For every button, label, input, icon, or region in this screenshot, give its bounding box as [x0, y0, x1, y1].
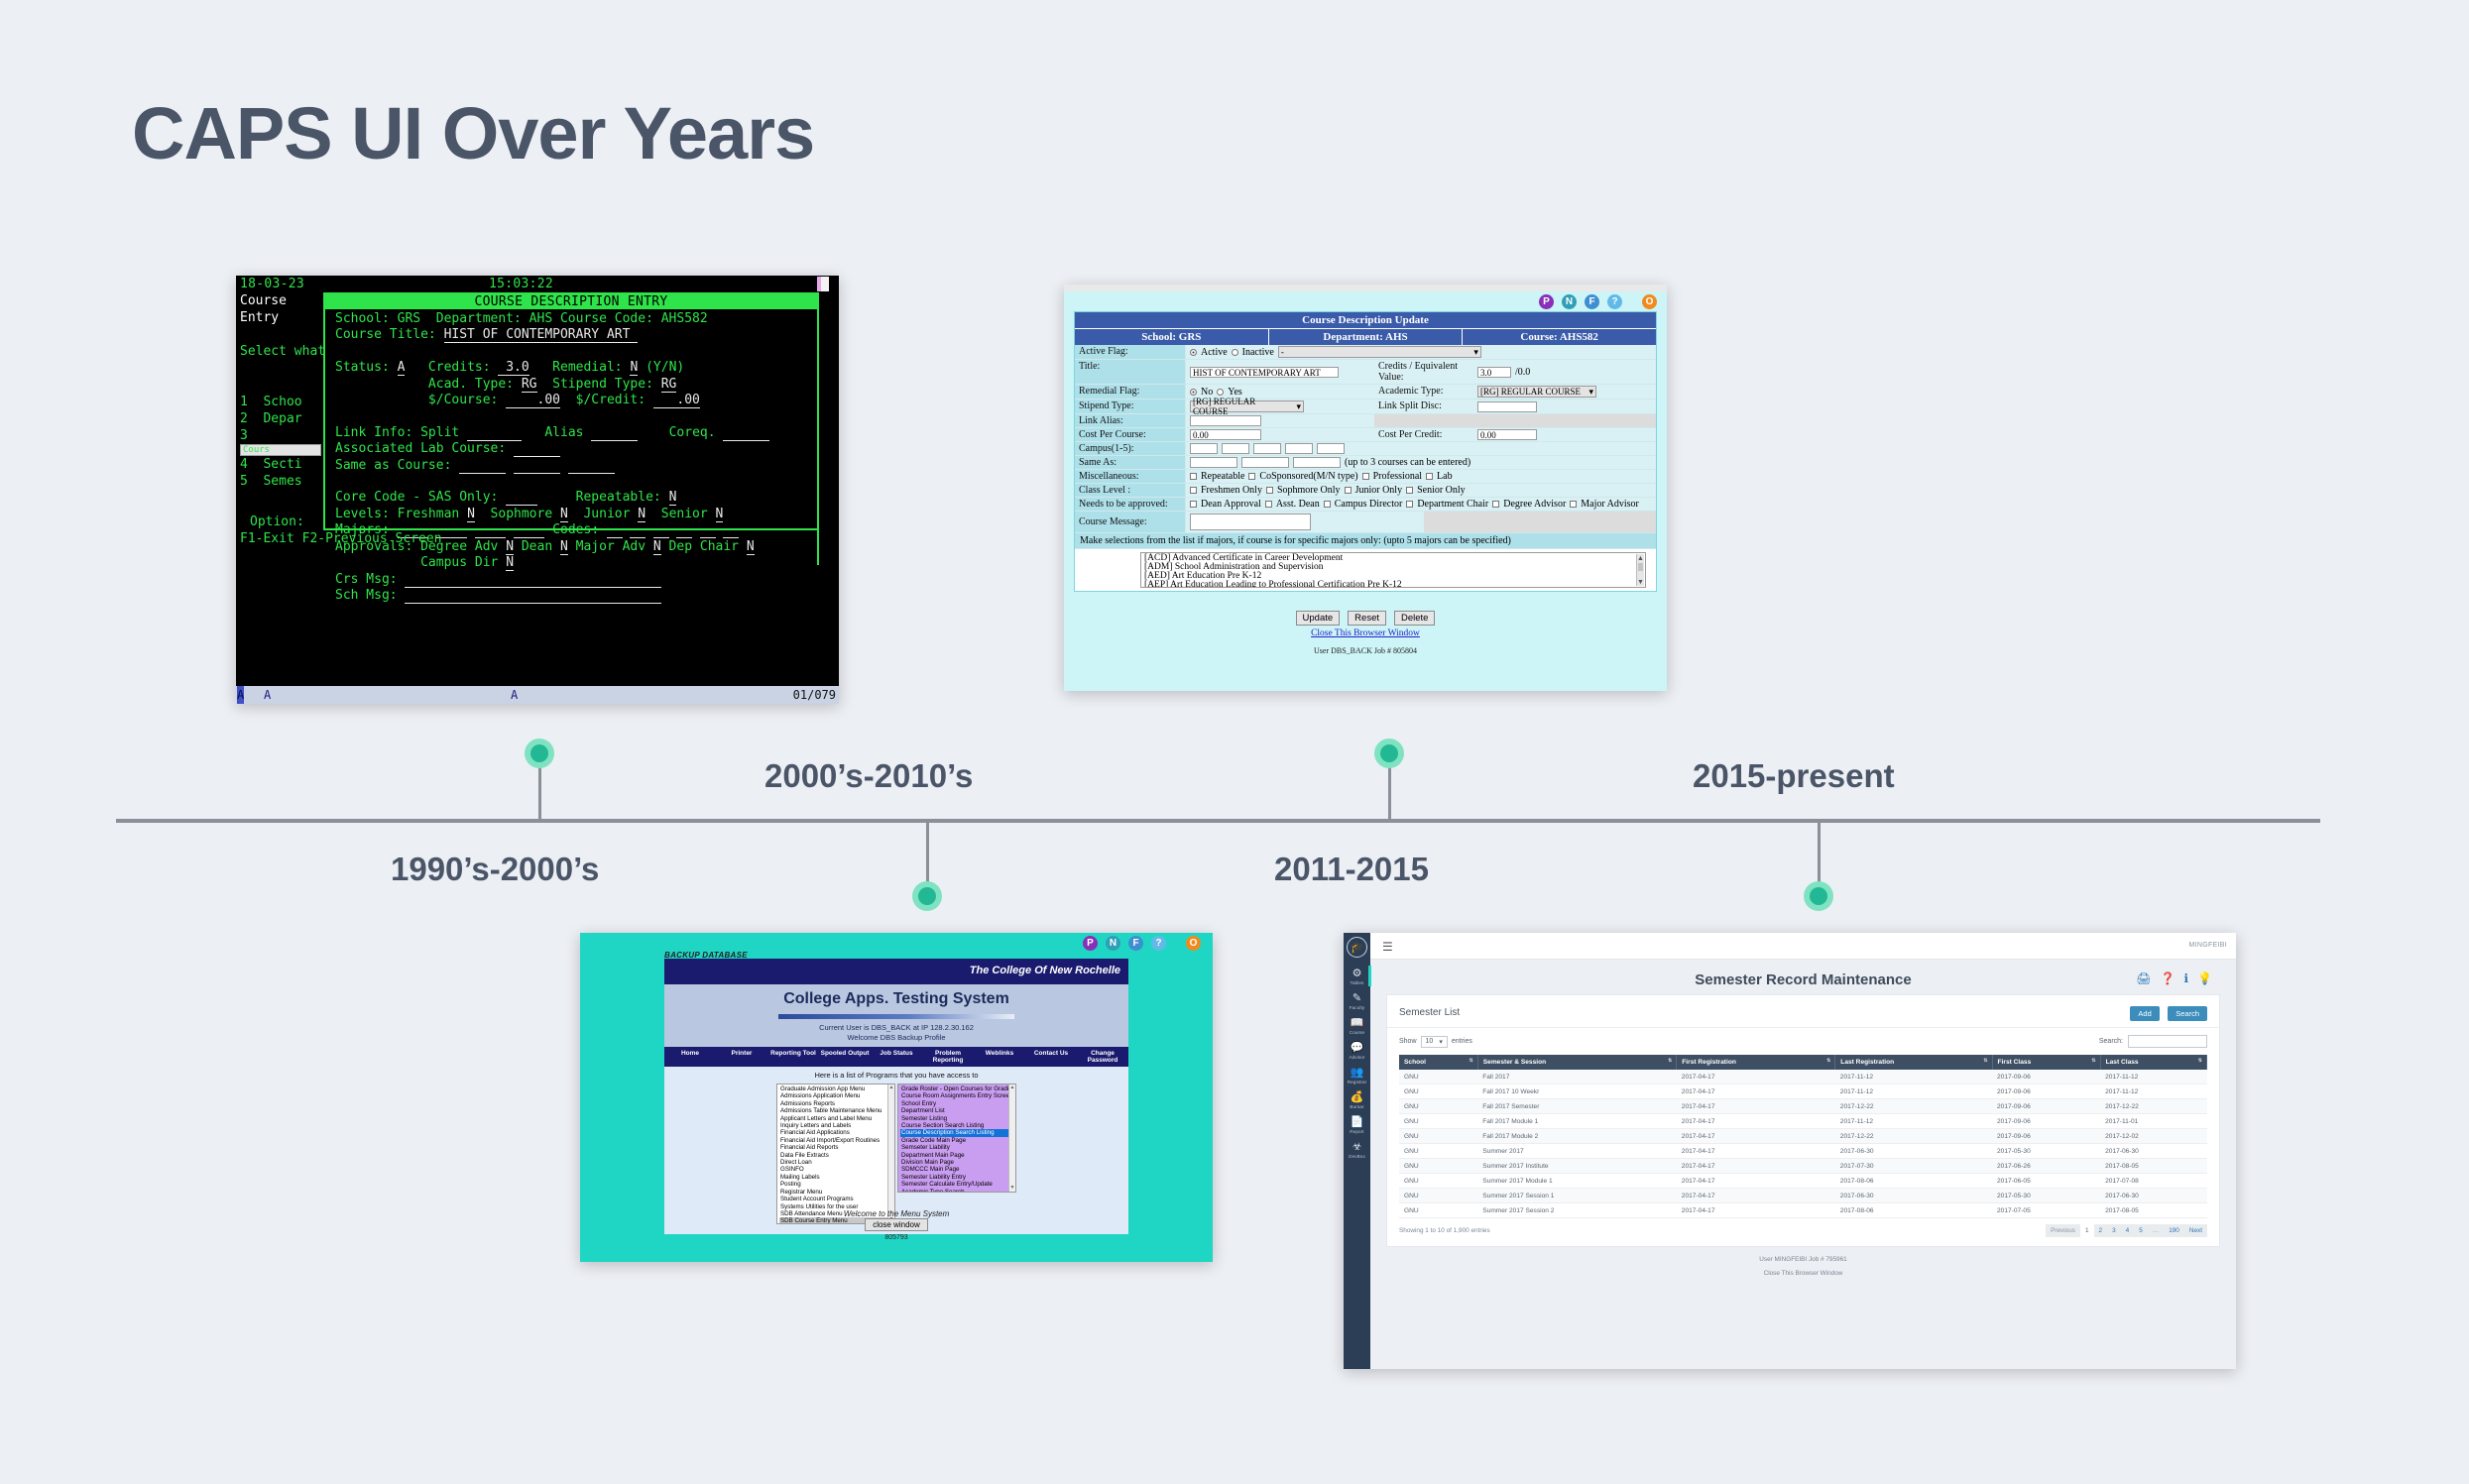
- remedial-yes-radio[interactable]: [1217, 389, 1224, 396]
- credits-input[interactable]: 3.0: [1477, 367, 1511, 378]
- pager-page-5[interactable]: 5: [2134, 1224, 2148, 1237]
- sidebar-item-label: Course: [1344, 1030, 1370, 1035]
- chevron-down-icon: ▾: [1588, 387, 1593, 398]
- page-heading: Semester Record Maintenance: [1370, 960, 2236, 994]
- cell-semester: Fall 2017 10 Weekr: [1477, 1084, 1677, 1099]
- add-button[interactable]: Add: [2130, 1006, 2159, 1021]
- cell-last-class: 2017-11-12: [2100, 1070, 2206, 1084]
- list-item[interactable]: Course Section Search Listing: [900, 1122, 1013, 1129]
- terminal-assoc-lab-field[interactable]: ______: [514, 441, 560, 457]
- terminal-code-1[interactable]: __: [607, 522, 623, 538]
- timeline-dot-4[interactable]: [1804, 881, 1833, 911]
- cyan-row-same-as: Same As: (up to 3 courses can be entered…: [1075, 456, 1656, 470]
- list-item[interactable]: Mailing Labels: [779, 1174, 892, 1181]
- table-row[interactable]: GNUFall 2017 Module 12017-04-172017-11-1…: [1399, 1114, 2207, 1129]
- sidebar-item-tables[interactable]: ⚙ Tables: [1344, 964, 1370, 988]
- column-semester-session[interactable]: Semester & Session⇅: [1477, 1055, 1677, 1070]
- terminal-approvals-dean-label: Dean: [514, 539, 560, 554]
- teal-footer-welcome: Welcome to the Menu System: [580, 1209, 1213, 1218]
- teal-app-title: College Apps. Testing System: [664, 990, 1128, 1008]
- cyan-approvals-fields: Dean Approval Asst. Dean Campus Director…: [1186, 498, 1656, 511]
- list-item[interactable]: Admissions Table Maintenance Menu: [779, 1107, 892, 1114]
- terminal-approvals-majadv-label: Major Adv: [568, 539, 653, 554]
- terminal-levels-label: Levels: Freshman: [335, 507, 467, 521]
- terminal-remedial-label: Remedial:: [529, 360, 631, 375]
- cyan-credits-field: 3.0 /0.0: [1473, 360, 1656, 384]
- cyan-same-as-label: Same As:: [1075, 456, 1186, 469]
- terminal-code-6[interactable]: __: [723, 522, 739, 538]
- majors-listbox[interactable]: [ACD] Advanced Certificate in Career Dev…: [1140, 552, 1646, 588]
- terminal-repeatable-value[interactable]: N: [669, 490, 677, 506]
- campus-input-2[interactable]: [1222, 443, 1249, 454]
- sidebar-item-registrar[interactable]: 👥 Registrar: [1344, 1063, 1370, 1087]
- majors-scrollbar[interactable]: ▲ ▼: [1636, 554, 1644, 586]
- table-row[interactable]: GNUSummer 20172017-04-172017-06-302017-0…: [1399, 1144, 2207, 1159]
- find-icon[interactable]: F: [1585, 294, 1599, 309]
- list-item[interactable]: Registrar Menu: [779, 1189, 892, 1196]
- cyan-row-course-message: Course Message:: [1075, 512, 1656, 533]
- link-alias-input[interactable]: [1190, 415, 1261, 426]
- lab-label: Lab: [1437, 471, 1453, 482]
- nav-printer[interactable]: Printer: [716, 1050, 767, 1064]
- cyan-cost-course-field: 0.00: [1186, 428, 1374, 441]
- sort-icon: ⇅: [1470, 1058, 1473, 1064]
- help-icon[interactable]: ?: [1607, 294, 1622, 309]
- sidebar-item-bursar[interactable]: 💰 Bursar: [1344, 1087, 1370, 1112]
- terminal-menu-item-2[interactable]: 2 Depar: [236, 410, 321, 427]
- title-input[interactable]: HIST OF CONTEMPORARY ART: [1190, 367, 1339, 378]
- close-window-button[interactable]: close window: [865, 1218, 928, 1231]
- semester-list-card: Semester List Add Search Show 10▾ entrie…: [1386, 994, 2220, 1247]
- pager-page-190[interactable]: 190: [2164, 1224, 2184, 1237]
- terminal-alias-label: Alias: [522, 425, 591, 440]
- freshmen-only-label: Freshmen Only: [1201, 485, 1262, 496]
- dean-approval-checkbox[interactable]: [1190, 501, 1197, 508]
- screenshot-teal-menu-2011: P N F ? O BACKUP DATABASE The College Of…: [580, 933, 1213, 1262]
- terminal-sidebar-prompt: Select what: [236, 343, 321, 360]
- close-browser-window-link[interactable]: Close This Browser Window: [1064, 628, 1667, 638]
- card-actions: Add Search: [2126, 1003, 2207, 1021]
- info-circle-icon[interactable]: ℹ: [2183, 971, 2188, 985]
- nav-reporting-tool[interactable]: Reporting Tool: [767, 1050, 819, 1064]
- table-row[interactable]: GNUFall 20172017-04-172017-11-122017-09-…: [1399, 1070, 2207, 1084]
- terminal-coreq-field[interactable]: ______: [723, 425, 769, 441]
- repeatable-label: Repeatable: [1201, 471, 1244, 482]
- help-icon-glyph: ?: [1155, 938, 1161, 949]
- remedial-no-radio[interactable]: [1190, 389, 1197, 396]
- search-input[interactable]: [2128, 1035, 2207, 1048]
- notes-icon-glyph: N: [1566, 296, 1573, 307]
- cell-last-reg: 2017-12-22: [1835, 1099, 1992, 1114]
- sidebar-item-faculty[interactable]: ✎ Faculty: [1344, 988, 1370, 1013]
- cell-semester: Summer 2017 Session 1: [1477, 1189, 1677, 1203]
- scroll-down-icon[interactable]: ▼: [1009, 1185, 1015, 1192]
- list-item[interactable]: Division Main Page: [900, 1159, 1013, 1166]
- timeline-dot-2[interactable]: [912, 881, 942, 911]
- update-button[interactable]: Update: [1296, 611, 1341, 626]
- terminal-menu-item-1[interactable]: 1 Schoo: [236, 394, 321, 410]
- cell-school: GNU: [1399, 1144, 1477, 1159]
- nav-problem-reporting[interactable]: Problem Reporting: [922, 1050, 974, 1064]
- terminal-menu-item-4[interactable]: 4 Secti: [236, 456, 321, 473]
- cyan-row-approvals: Needs to be approved: Dean Approval Asst…: [1075, 498, 1656, 512]
- sophmore-only-checkbox[interactable]: [1266, 487, 1273, 494]
- pager-page-3[interactable]: 3: [2107, 1224, 2121, 1237]
- cyan-stipend-field: [RG] REGULAR COURSE▾: [1186, 400, 1374, 413]
- cluster-icon: ☣: [1344, 1141, 1370, 1153]
- hamburger-menu-icon[interactable]: ☰: [1382, 940, 1393, 954]
- cyan-course-message-spacer-2: [1424, 512, 1656, 532]
- help-icon[interactable]: ?: [1151, 936, 1166, 951]
- find-icon[interactable]: F: [1128, 936, 1143, 951]
- department-chair-checkbox[interactable]: [1406, 501, 1413, 508]
- terminal-remedial-suffix: (Y/N): [638, 360, 684, 375]
- cyan-link-split-label: Link Split Disc:: [1374, 400, 1473, 413]
- terminal-levels-soph[interactable]: N: [560, 507, 568, 522]
- terminal-acad-value[interactable]: RG: [522, 377, 537, 393]
- cell-last-reg: 2017-06-30: [1835, 1189, 1992, 1203]
- cell-first-reg: 2017-04-17: [1677, 1070, 1835, 1084]
- list-item[interactable]: Course Room Assignments Entry Screen: [900, 1092, 1013, 1099]
- nav-contact-us[interactable]: Contact Us: [1025, 1050, 1077, 1064]
- cosponsored-checkbox[interactable]: [1248, 473, 1255, 480]
- terminal-menu-label-5: Semes: [263, 474, 301, 489]
- modern-topbar: ☰ MINGFEIBI: [1370, 933, 2236, 960]
- list-item-selected[interactable]: Course Description Search Listing: [900, 1129, 1013, 1136]
- list-item[interactable]: Semester Calculate Entry/Update: [900, 1181, 1013, 1188]
- campus-director-checkbox[interactable]: [1324, 501, 1331, 508]
- help-circle-icon[interactable]: ❓: [2161, 971, 2175, 985]
- terminal-code-2[interactable]: __: [630, 522, 646, 538]
- asst-dean-checkbox[interactable]: [1265, 501, 1272, 508]
- print-icon-glyph: P: [1087, 938, 1094, 949]
- logout-icon[interactable]: O: [1642, 294, 1657, 309]
- scroll-down-icon[interactable]: ▼: [1637, 578, 1644, 586]
- help-icon-glyph: ?: [1611, 296, 1617, 307]
- cyan-title-label: Title:: [1075, 360, 1186, 384]
- terminal-credits-label: Credits:: [405, 360, 498, 375]
- cost-per-credit-input[interactable]: 0.00: [1477, 429, 1537, 440]
- search-button[interactable]: Search: [2168, 1006, 2207, 1021]
- table-row[interactable]: GNUFall 2017 10 Weekr2017-04-172017-11-1…: [1399, 1084, 2207, 1099]
- timeline-stem-2: [926, 821, 929, 886]
- major-option-4[interactable]: [AEP] Art Education Leading to Professio…: [1144, 581, 1642, 588]
- terminal-course-title-value[interactable]: HIST OF CONTEMPORARY ART: [444, 327, 639, 343]
- sidebar-item-advisor[interactable]: 💬 Advisor: [1344, 1038, 1370, 1063]
- same-as-input-3[interactable]: [1293, 457, 1341, 468]
- pager-previous[interactable]: Previous: [2046, 1224, 2080, 1237]
- cell-first-class: 2017-06-26: [1992, 1159, 2100, 1174]
- campus-input-5[interactable]: [1317, 443, 1345, 454]
- freshmen-only-checkbox[interactable]: [1190, 487, 1197, 494]
- cell-first-class: 2017-09-06: [1992, 1129, 2100, 1144]
- terminal-code-5[interactable]: __: [700, 522, 716, 538]
- terminal-levels-freshman[interactable]: N: [467, 507, 475, 522]
- cyan-row-link-alias: Link Alias:: [1075, 414, 1656, 428]
- cost-per-course-input[interactable]: 0.00: [1190, 429, 1261, 440]
- teal-access-note: Here is a list of Programs that you have…: [664, 1071, 1128, 1080]
- nav-home[interactable]: Home: [664, 1050, 716, 1064]
- terminal-levels-junior[interactable]: N: [638, 507, 646, 522]
- teal-list-container: Graduate Admission App Menu Admissions A…: [664, 1084, 1128, 1224]
- list-item[interactable]: Admissions Application Menu: [779, 1092, 892, 1099]
- cell-school: GNU: [1399, 1084, 1477, 1099]
- nav-change-password[interactable]: Change Password: [1077, 1050, 1128, 1064]
- list-item[interactable]: Financial Aid Applications: [779, 1129, 892, 1136]
- cyan-row-stipend: Stipend Type: [RG] REGULAR COURSE▾ Link …: [1075, 400, 1656, 414]
- list-item[interactable]: Admissions Reports: [779, 1100, 892, 1107]
- timeline-dot-3[interactable]: [1374, 739, 1404, 768]
- terminal-function-keys: F1-Exit F2-Previous Screen: [240, 531, 442, 546]
- print-icon[interactable]: P: [1539, 294, 1554, 309]
- professional-checkbox[interactable]: [1362, 473, 1369, 480]
- delete-button[interactable]: Delete: [1394, 611, 1435, 626]
- cyan-link-split-field: [1473, 400, 1656, 413]
- list-item[interactable]: Academic Type Search: [900, 1189, 1013, 1193]
- cell-school: GNU: [1399, 1129, 1477, 1144]
- lab-checkbox[interactable]: [1426, 473, 1433, 480]
- reset-button[interactable]: Reset: [1348, 611, 1386, 626]
- list-item[interactable]: Department List: [900, 1107, 1013, 1114]
- screenshot-cyan-form-2000s: P N F ? O Course Description Update Scho…: [1064, 285, 1667, 691]
- same-as-input-1[interactable]: [1190, 457, 1237, 468]
- terminal-assoc-lab-label: Associated Lab Course:: [335, 441, 514, 456]
- teal-divider-bar: [778, 1014, 1014, 1019]
- pager-page-2[interactable]: 2: [2094, 1224, 2108, 1237]
- asst-dean-label: Asst. Dean: [1276, 499, 1320, 510]
- cell-school: GNU: [1399, 1159, 1477, 1174]
- pager-ellipsis: …: [2148, 1224, 2164, 1237]
- cell-last-class: 2017-08-05: [2100, 1203, 2206, 1218]
- list-item[interactable]: Data File Extracts: [779, 1152, 892, 1159]
- terminal-approvals-majadv[interactable]: N: [653, 539, 661, 555]
- list-item[interactable]: Student Account Programs: [779, 1196, 892, 1202]
- senior-only-checkbox[interactable]: [1406, 487, 1413, 494]
- entries-label: entries: [1452, 1038, 1472, 1045]
- table-row[interactable]: GNUSummer 2017 Session 22017-04-172017-0…: [1399, 1203, 2207, 1218]
- cell-last-reg: 2017-11-12: [1835, 1084, 1992, 1099]
- scroll-up-icon[interactable]: ▲: [888, 1084, 894, 1091]
- scroll-up-icon[interactable]: ▲: [1009, 1084, 1015, 1091]
- list-item[interactable]: Semester Listing: [900, 1115, 1013, 1122]
- cyan-majors-note: Make selections from the list if majors,…: [1075, 533, 1656, 549]
- cell-semester: Fall 2017 Module 2: [1477, 1129, 1677, 1144]
- nav-weblinks[interactable]: Weblinks: [974, 1050, 1025, 1064]
- table-row[interactable]: GNUFall 2017 Module 22017-04-172017-12-2…: [1399, 1129, 2207, 1144]
- junior-only-checkbox[interactable]: [1345, 487, 1352, 494]
- cell-first-class: 2017-09-06: [1992, 1084, 2100, 1099]
- terminal-sch-msg-field[interactable]: _________________________________: [405, 588, 660, 604]
- campus-input-3[interactable]: [1253, 443, 1281, 454]
- programs-listbox-left[interactable]: Graduate Admission App Menu Admissions A…: [776, 1084, 895, 1224]
- degree-advisor-checkbox[interactable]: [1492, 501, 1499, 508]
- column-last-registration[interactable]: Last Registration⇅: [1835, 1055, 1992, 1070]
- course-message-input[interactable]: [1190, 514, 1311, 530]
- terminal-dollar-course-value[interactable]: .00: [506, 393, 560, 408]
- cyan-department: Department: AHS: [1269, 329, 1464, 345]
- cyan-button-row: Update Reset Delete: [1064, 608, 1667, 626]
- list-item[interactable]: SDMCCC Main Page: [900, 1166, 1013, 1173]
- entries-select[interactable]: 10▾: [1421, 1036, 1448, 1048]
- terminal-core-code-field[interactable]: ____: [506, 490, 536, 506]
- list-item[interactable]: Financial Aid Reports: [779, 1144, 892, 1151]
- sidebar-item-label: Report: [1344, 1129, 1370, 1134]
- page-title: CAPS UI Over Years: [132, 91, 814, 175]
- terminal-levels-senior[interactable]: N: [716, 507, 724, 522]
- column-first-class[interactable]: First Class⇅: [1992, 1055, 2100, 1070]
- semester-table: School⇅ Semester & Session⇅ First Regist…: [1399, 1055, 2207, 1218]
- active-flag-select[interactable]: -▾: [1278, 346, 1481, 358]
- notes-icon[interactable]: N: [1562, 294, 1577, 309]
- active-radio[interactable]: [1190, 349, 1197, 356]
- programs-listbox-right[interactable]: Grade Roster - Open Courses for Grading …: [897, 1084, 1016, 1193]
- graduation-cap-icon[interactable]: 🎓: [1347, 937, 1367, 958]
- list-item[interactable]: Inquiry Letters and Labels: [779, 1122, 892, 1129]
- find-icon-glyph: F: [1132, 938, 1138, 949]
- timeline-dot-1[interactable]: [525, 739, 554, 768]
- same-as-input-2[interactable]: [1241, 457, 1289, 468]
- cyan-active-flag-field: Active Inactive -▾: [1186, 345, 1656, 359]
- cell-last-class: 2017-07-08: [2100, 1174, 2206, 1189]
- cyan-approvals-label: Needs to be approved:: [1075, 498, 1186, 511]
- cyan-blank-field-1: [1473, 414, 1656, 427]
- printer-icon[interactable]: 🖨: [2136, 971, 2151, 985]
- terminal-link-info-label: Link Info: Split: [335, 425, 467, 440]
- list-item[interactable]: Posting: [779, 1181, 892, 1188]
- pagination: Previous 1 2 3 4 5 … 190 Next: [2046, 1224, 2207, 1237]
- terminal-major-3[interactable]: ____: [475, 522, 506, 538]
- cell-last-reg: 2017-06-30: [1835, 1144, 1992, 1159]
- cyan-campus-fields: [1186, 442, 1656, 455]
- left-list-scrollbar[interactable]: ▲ ▼: [887, 1084, 894, 1223]
- scroll-thumb[interactable]: [1638, 563, 1643, 571]
- sidebar-item-course[interactable]: 📖 Course: [1344, 1013, 1370, 1038]
- terminal-same-as-field-3[interactable]: ______: [568, 458, 615, 474]
- pager-page-1[interactable]: 1: [2080, 1224, 2094, 1237]
- column-last-registration-label: Last Registration: [1840, 1059, 1894, 1066]
- terminal-code-3[interactable]: __: [653, 522, 669, 538]
- table-row[interactable]: GNUSummer 2017 Institute2017-04-172017-0…: [1399, 1159, 2207, 1174]
- cell-last-class: 2017-11-01: [2100, 1114, 2206, 1129]
- major-advisor-checkbox[interactable]: [1570, 501, 1577, 508]
- column-first-registration[interactable]: First Registration⇅: [1677, 1055, 1835, 1070]
- terminal-menu-label-2: Depar: [263, 411, 301, 426]
- cell-semester: Summer 2017 Module 1: [1477, 1174, 1677, 1189]
- list-item[interactable]: Applicant Letters and Label Menu: [779, 1115, 892, 1122]
- terminal-dollar-credit-value[interactable]: .00: [653, 393, 700, 408]
- academic-type-select[interactable]: [RG] REGULAR COURSE▾: [1477, 386, 1596, 398]
- inactive-radio[interactable]: [1232, 349, 1238, 356]
- terminal-approvals-dean[interactable]: N: [560, 539, 568, 555]
- cyan-stipend-label: Stipend Type:: [1075, 400, 1186, 413]
- table-row[interactable]: GNUFall 2017 Semester2017-04-172017-12-2…: [1399, 1099, 2207, 1114]
- terminal-credits-value[interactable]: 3.0: [498, 360, 529, 376]
- sidebar-item-report[interactable]: 📄 Report: [1344, 1112, 1370, 1137]
- notes-icon[interactable]: N: [1106, 936, 1120, 951]
- pager-page-4[interactable]: 4: [2121, 1224, 2135, 1237]
- cyan-misc-label: Miscellaneous:: [1075, 470, 1186, 483]
- teal-icon-row: P N F ? O: [580, 933, 1213, 951]
- cell-school: GNU: [1399, 1099, 1477, 1114]
- pager-next[interactable]: Next: [2184, 1224, 2207, 1237]
- scroll-up-icon[interactable]: ▲: [1637, 554, 1644, 562]
- stipend-type-select[interactable]: [RG] REGULAR COURSE▾: [1190, 400, 1304, 412]
- repeatable-checkbox[interactable]: [1190, 473, 1197, 480]
- nav-job-status[interactable]: Job Status: [871, 1050, 922, 1064]
- list-item[interactable]: Direct Loan: [779, 1159, 892, 1166]
- terminal-alias-field[interactable]: ______: [591, 425, 638, 441]
- list-item[interactable]: Graduate Admission App Menu: [779, 1085, 892, 1092]
- column-school[interactable]: School⇅: [1399, 1055, 1477, 1070]
- table-row[interactable]: GNUSummer 2017 Session 12017-04-172017-0…: [1399, 1189, 2207, 1203]
- modern-close-link[interactable]: Close This Browser Window: [1370, 1270, 2236, 1277]
- cyan-cost-credit-label: Cost Per Credit:: [1374, 428, 1473, 441]
- terminal-crs-msg-label: Crs Msg:: [335, 572, 405, 587]
- terminal-same-as-field-1[interactable]: ______: [459, 458, 506, 474]
- cell-first-reg: 2017-04-17: [1677, 1159, 1835, 1174]
- list-item[interactable]: GSINFO: [779, 1166, 892, 1173]
- logout-icon[interactable]: O: [1186, 936, 1201, 951]
- nav-spooled-output[interactable]: Spooled Output: [819, 1050, 871, 1064]
- table-row[interactable]: GNUSummer 2017 Module 12017-04-172017-08…: [1399, 1174, 2207, 1189]
- modern-sidebar: 🎓 ⚙ Tables ✎ Faculty 📖 Course 💬 Advisor …: [1344, 933, 1370, 1369]
- sidebar-item-label: Tables: [1344, 980, 1370, 985]
- terminal-menu-item-3[interactable]: 3 Cours: [236, 427, 321, 456]
- list-item[interactable]: Grade Roster - Open Courses for Grading: [900, 1085, 1013, 1092]
- list-item[interactable]: Semester Liability Entry: [900, 1174, 1013, 1181]
- print-icon[interactable]: P: [1083, 936, 1098, 951]
- terminal-menu-item-5[interactable]: 5 Semes: [236, 473, 321, 490]
- cosponsored-label: CoSponsored(M/N type): [1259, 471, 1357, 482]
- terminal-levels-senior-label: Senior: [646, 507, 715, 521]
- terminal-major-4[interactable]: ____: [514, 522, 544, 538]
- terminal-split-field[interactable]: _______: [467, 425, 522, 441]
- list-item[interactable]: Financial Aid Import/Export Routines: [779, 1137, 892, 1144]
- campus-input-1[interactable]: [1190, 443, 1218, 454]
- list-item[interactable]: Grade Code Main Page: [900, 1137, 1013, 1144]
- link-split-input[interactable]: [1477, 401, 1537, 412]
- terminal-crs-msg-field[interactable]: _________________________________: [405, 572, 660, 588]
- list-item[interactable]: Semseter Liability: [900, 1144, 1013, 1151]
- cyan-row-campus: Campus(1-5):: [1075, 442, 1656, 456]
- right-list-scrollbar[interactable]: ▲ ▼: [1008, 1084, 1015, 1192]
- column-last-class[interactable]: Last Class⇅: [2100, 1055, 2206, 1070]
- cell-school: GNU: [1399, 1203, 1477, 1218]
- sidebar-item-devbox[interactable]: ☣ DevBox: [1344, 1137, 1370, 1162]
- timeline-label-1: 1990’s-2000’s: [391, 851, 599, 888]
- chevron-down-icon: ▾: [1473, 347, 1478, 358]
- lightbulb-icon[interactable]: 💡: [2197, 971, 2212, 985]
- cyan-blank-label-1: [1374, 414, 1473, 427]
- teal-app-header: College Apps. Testing System Current Use…: [664, 984, 1128, 1047]
- campus-input-4[interactable]: [1285, 443, 1313, 454]
- terminal-approvals-depchair-label: Dep Chair: [661, 539, 747, 554]
- column-last-class-label: Last Class: [2106, 1059, 2139, 1066]
- list-item[interactable]: School Entry: [900, 1100, 1013, 1107]
- junior-only-label: Junior Only: [1355, 485, 1403, 496]
- terminal-same-as-field-2[interactable]: ______: [514, 458, 560, 474]
- terminal-approvals-degadv[interactable]: N: [506, 539, 514, 555]
- cell-last-class: 2017-11-12: [2100, 1084, 2206, 1099]
- timeline-label-4: 2015-present: [1693, 757, 1895, 795]
- terminal-date: 18-03-23: [240, 276, 304, 292]
- cyan-cost-course-label: Cost Per Course:: [1075, 428, 1186, 441]
- terminal-campus-dir[interactable]: N: [506, 555, 514, 571]
- terminal-approvals-depchair[interactable]: N: [747, 539, 755, 555]
- terminal-code-4[interactable]: __: [676, 522, 692, 538]
- terminal-stipend-value[interactable]: RG: [661, 377, 677, 393]
- list-item[interactable]: Department Main Page: [900, 1152, 1013, 1159]
